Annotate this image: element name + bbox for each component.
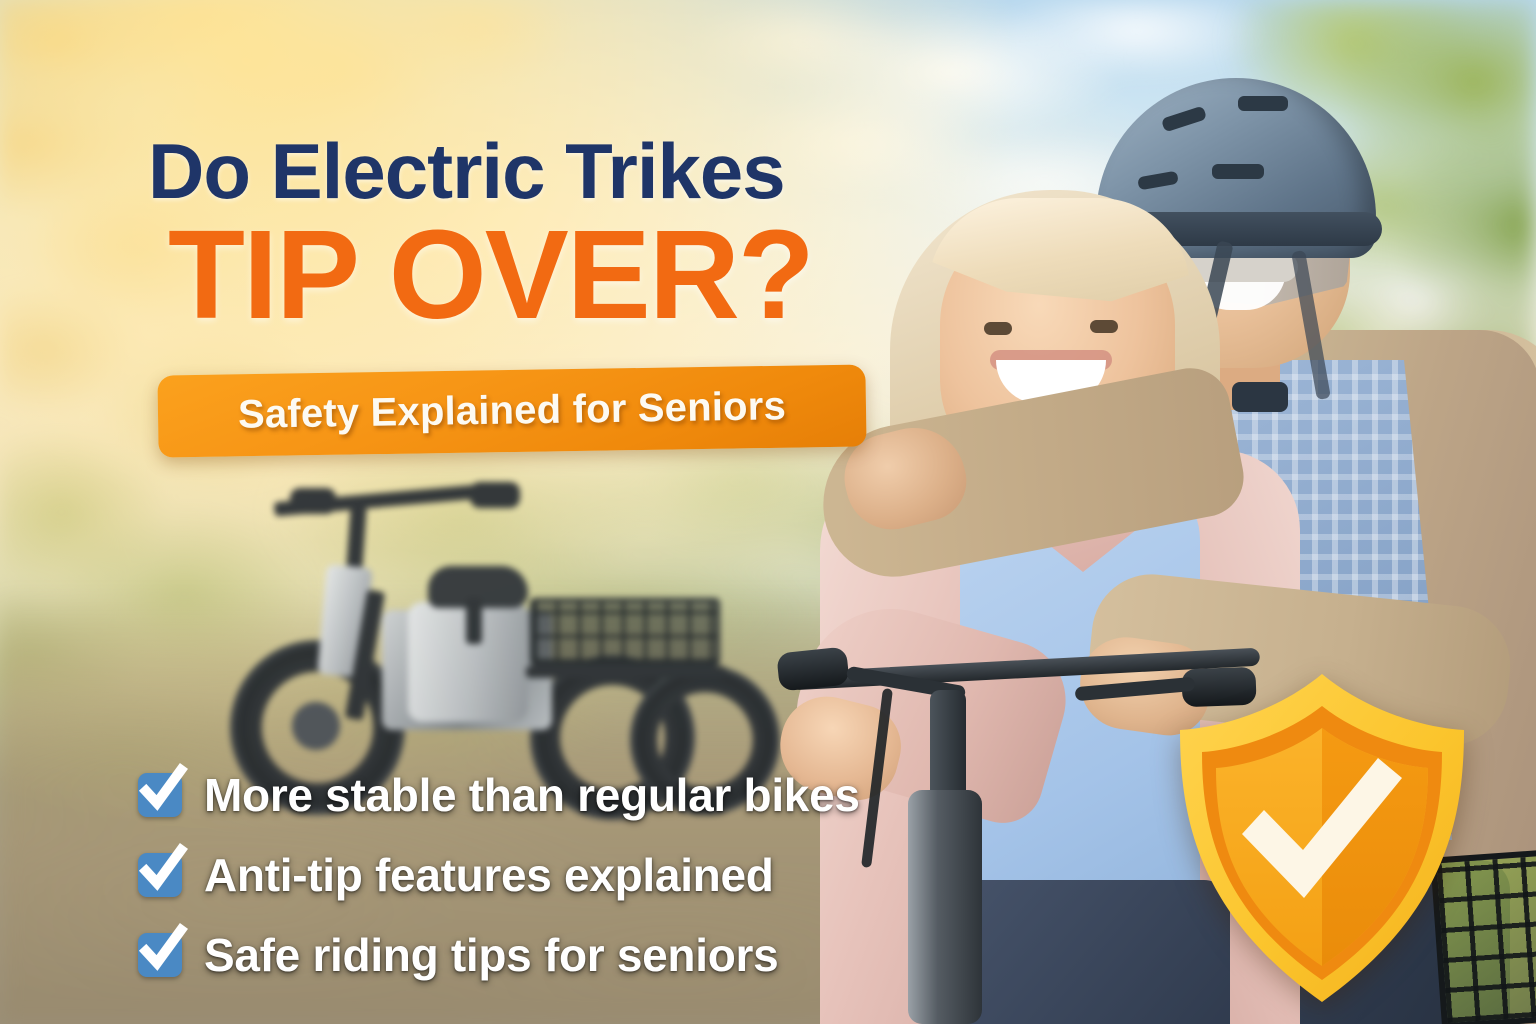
check-icon — [138, 933, 182, 977]
helmet-vent-2 — [1238, 96, 1288, 111]
promo-banner: Do Electric Trikes TIP OVER? Safety Expl… — [0, 0, 1536, 1024]
helmet-vent-1 — [1161, 106, 1207, 133]
trike-grip-left — [290, 488, 336, 514]
checklist-item: More stable than regular bikes — [138, 758, 938, 832]
check-icon — [138, 773, 182, 817]
helmet-buckle — [1232, 382, 1288, 412]
subtitle-badge: Safety Explained for Seniors — [157, 364, 866, 457]
handlebar-grip-left — [776, 646, 850, 691]
check-icon — [138, 853, 182, 897]
checklist-item: Anti-tip features explained — [138, 838, 938, 912]
checklist-item-label: Safe riding tips for seniors — [204, 928, 778, 982]
trike-front-hub — [292, 702, 340, 750]
trike-seatpost — [466, 598, 482, 644]
headline-line-2: TIP OVER? — [168, 212, 813, 338]
woman-eye-right — [1090, 320, 1118, 333]
helmet-vent-3 — [1137, 171, 1179, 191]
checklist-item-label: More stable than regular bikes — [204, 768, 860, 822]
woman-eye-left — [984, 322, 1012, 335]
helmet-vent-4 — [1212, 164, 1264, 179]
checklist-item: Safe riding tips for seniors — [138, 918, 938, 992]
benefits-checklist: More stable than regular bikes Anti-tip … — [138, 758, 938, 998]
subtitle-badge-label: Safety Explained for Seniors — [158, 383, 867, 439]
checklist-item-label: Anti-tip features explained — [204, 848, 774, 902]
trike-rear-axle — [526, 666, 726, 678]
trike-grip-right — [470, 482, 520, 508]
shield-check-icon — [1172, 668, 1472, 1008]
trike-cargo-basket — [530, 598, 720, 666]
